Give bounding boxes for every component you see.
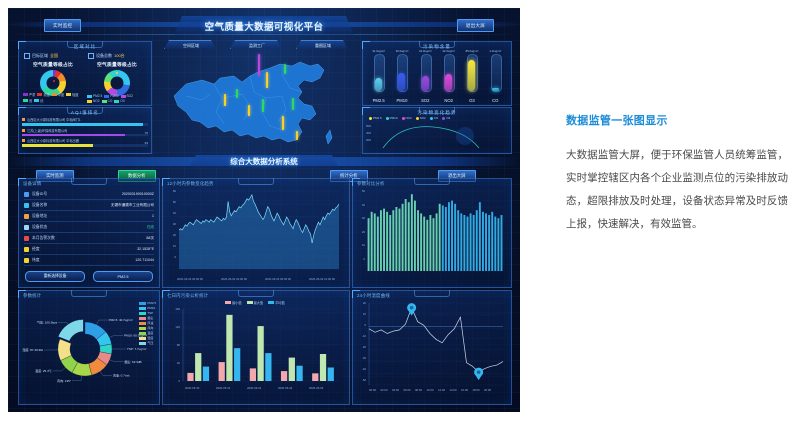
trend-legend-item: NO2: [402, 116, 412, 120]
tube-fill: [445, 74, 452, 91]
legend-swatch: [23, 99, 28, 102]
pie-slice-label: 湿度: 87.4%RH: [23, 347, 44, 352]
region-panel-title: 区域对比: [19, 44, 151, 50]
device-row: 设备名称无锡市通顺市工业有限公司: [24, 200, 154, 211]
axis-tick: 30: [162, 222, 176, 226]
legend-swatch: [139, 327, 146, 330]
exit-fullscreen-button[interactable]: 退出大屏: [457, 19, 494, 32]
bullet-icon: [22, 118, 25, 121]
axis-tick: 16:00: [461, 388, 468, 392]
region-left-legend: 严重重度中度轻度良优: [23, 92, 83, 103]
rank-value: 69: [145, 141, 148, 145]
target-region-label: 目标区域: [32, 53, 48, 59]
tube-name-labels: PM2.5PM10SO2NO2O3CO: [367, 98, 507, 103]
pie-legend-item: 风向: [139, 326, 156, 330]
legend-label: 优: [40, 98, 43, 103]
device-count-selector[interactable]: 设备总数 100台: [85, 52, 149, 59]
axis-tick: 400: [366, 130, 371, 137]
device-row: 设备ID号202003190010000Z: [24, 189, 154, 200]
legend-swatch: [121, 95, 126, 98]
device-row: 设备状态在线: [24, 222, 154, 233]
rank-name: 山西区大小原标准有限公司 中标出器: [22, 138, 148, 143]
tube-name: PM10: [393, 98, 410, 103]
legend-swatch: [23, 93, 28, 96]
reselect-device-button[interactable]: 重新选择设备: [25, 271, 85, 282]
page-root: 实时监控 空气质量大数据可视化平台 退出大屏 区域对比 目标区域 全国 空气质量…: [0, 0, 800, 435]
rank-bar-fill: [22, 123, 143, 126]
legend-item: PM10: [104, 94, 118, 98]
legend-label: CO: [108, 99, 113, 103]
trend-legend-item: CO: [430, 116, 439, 120]
pie-legend-item: 烟尘: [139, 316, 156, 320]
checkbox-icon[interactable]: [88, 53, 94, 59]
legend-label: 平均值: [275, 300, 285, 305]
trend-legend-item: PM10: [386, 116, 398, 120]
map-marker[interactable]: [236, 89, 238, 98]
axis-tick: 40: [165, 361, 180, 365]
tube-bars: [367, 56, 507, 92]
tube-name: PM2.5: [370, 98, 387, 103]
axis-tick: 2020-06-03: [309, 386, 323, 390]
device-row: 设备地址1: [24, 211, 154, 222]
tube-fill: [375, 78, 382, 91]
legend-item: SO2: [121, 94, 133, 98]
axis-tick: 04:00: [392, 388, 399, 392]
tube-unit-labels: 31.0ug/m³40.0ug/m³34.0ug/m³42.0ug/m³85.0…: [367, 49, 507, 53]
tube-PM2.5[interactable]: [374, 56, 383, 92]
rank-name: 江苏(上级)环保科技有限公司: [22, 128, 148, 133]
map-marker[interactable]: [248, 105, 250, 116]
temperature-line-panel: 24小时温度曲线 20100-10-20-30-40-50 00:0002:00…: [352, 290, 512, 405]
pie-slice-label: 温度: 25.4℃: [35, 368, 52, 373]
legend-label: CO: [434, 116, 439, 120]
axis-tick: 2020-05-31: [216, 386, 230, 390]
legend-swatch: [139, 342, 146, 345]
tube-PM10[interactable]: [397, 56, 406, 92]
group-legend-item: 平均值: [268, 300, 285, 305]
rank-bar: [22, 123, 148, 126]
legend-label: 湿度: [147, 336, 153, 340]
axis-tick: 02:00: [381, 388, 388, 392]
target-region-value: 全国: [50, 53, 58, 59]
axis-tick: 20: [352, 301, 366, 305]
tube-unit: 42.0ug/m³: [440, 49, 457, 53]
donut-highlight-dot: [116, 72, 118, 74]
axis-tick: 10: [162, 244, 176, 248]
pie-legend: PM2.5PM10TSP烟尘风速风向温度湿度气压: [139, 301, 156, 345]
dashboard-screenshot: 实时监控 空气质量大数据可视化平台 退出大屏 区域对比 目标区域 全国 空气质量…: [8, 8, 520, 412]
legend-label: PM2.5: [147, 301, 156, 305]
tube-unit: 85.0ug/m³: [463, 49, 480, 53]
legend-label: PM10: [147, 306, 155, 310]
legend-item: 轻度: [66, 92, 78, 97]
panel-notch: [414, 290, 450, 297]
axis-tick: 500: [366, 123, 371, 130]
pollutant-content-panel: 污染物含量 31.0ug/m³40.0ug/m³34.0ug/m³42.0ug/…: [362, 41, 512, 106]
region-compare-left: 目标区域 全国 空气质量等级占比 严重重度中度轻度良优: [21, 52, 85, 104]
axis-tick: 2020-06-03 12:00:00: [309, 277, 335, 281]
axis-tick: 08:00: [415, 388, 422, 392]
legend-item: NO2: [87, 99, 100, 103]
parameter-pie-panel: 参数统计 PM2.5: 40.7ug/m³PM10: 60.3ug/m³TSP:…: [18, 290, 160, 405]
pie-slice-label: 风速: 0.7m/s: [113, 373, 130, 378]
legend-item: 优: [34, 98, 43, 103]
map-tab-2[interactable]: 重图区域: [296, 40, 350, 51]
axis-tick: 20:00: [484, 388, 491, 392]
panel-notch: [238, 290, 274, 297]
id-icon: [24, 192, 29, 197]
china-map-svg: [162, 54, 352, 150]
axis-tick: -30: [352, 356, 366, 360]
legend-label: O3: [120, 99, 124, 103]
tube-track: [491, 54, 502, 92]
dashboard-header: 实时监控 空气质量大数据可视化平台 退出大屏: [8, 8, 520, 38]
device-row: 经度32.1528°E: [24, 244, 154, 255]
device-value: 88次: [146, 236, 154, 241]
legend-label: TSP: [147, 311, 153, 315]
region-right-legend: PM2.5PM10SO2NO2COO3: [87, 94, 147, 103]
platform-title-text: 空气质量大数据可视化平台: [205, 19, 324, 33]
panel-notch: [238, 178, 274, 185]
pie-chart-svg[interactable]: PM2.5: 40.7ug/m³PM10: 60.3ug/m³TSP: 7.7u…: [27, 301, 151, 399]
tube-name: SO2: [417, 98, 434, 103]
axis-tick: 120: [165, 325, 180, 329]
panel-notch: [414, 178, 450, 185]
region-right-chart-title: 空气质量等级占比: [85, 61, 149, 68]
donut-highlight-dot: [53, 80, 55, 82]
device-value: 在线: [147, 225, 154, 230]
legend-item: 重度: [37, 92, 49, 97]
pie-legend-item: TSP: [139, 311, 156, 315]
axis-tick: 2020-06-03 03:00:00: [221, 277, 247, 281]
tube-unit: 1.0mg/m³: [487, 49, 504, 53]
map-marker[interactable]: [266, 72, 268, 88]
axis-tick: 10:00: [427, 388, 434, 392]
trend-legend-item: PM2.5: [369, 116, 382, 120]
group-bar-svg[interactable]: [183, 309, 339, 381]
group-panel-title: 七日内污染公析统计: [167, 293, 208, 299]
device-action-buttons: 重新选择设备 PM2.5: [25, 271, 153, 282]
legend-swatch: [139, 302, 146, 305]
rank-bar-fill: [22, 144, 93, 147]
legend-label: PM2.5: [93, 94, 102, 98]
legend-label: 严重: [29, 92, 35, 97]
tube-fill: [422, 76, 429, 91]
legend-swatch: [402, 117, 405, 120]
axis-tick: -20: [352, 345, 366, 349]
legend-label: PM10: [390, 116, 398, 120]
trend-legend-item: SO2: [416, 116, 426, 120]
tube-name: O3: [463, 98, 480, 103]
device-key: 设备名称: [32, 203, 47, 208]
legend-label: 最小值: [232, 300, 242, 305]
axis-tick: 80: [165, 343, 180, 347]
rank-panel-title: AQI值排名: [19, 110, 151, 116]
axis-tick: 300: [366, 137, 371, 144]
legend-swatch: [37, 93, 42, 96]
axis-tick: 10: [351, 243, 365, 247]
device-row: 本月告警次数88次: [24, 233, 154, 244]
legend-swatch: [225, 301, 231, 304]
platform-title: 空气质量大数据可视化平台: [174, 16, 354, 35]
axis-tick: 0: [165, 379, 180, 383]
line-chart-svg[interactable]: [369, 303, 503, 385]
axis-tick: 2020-06-01: [247, 386, 261, 390]
axis-tick: 50: [351, 189, 365, 193]
legend-swatch: [386, 117, 389, 120]
group-legend: 最小值最大值平均值: [225, 300, 285, 305]
legend-swatch: [104, 95, 109, 98]
axis-tick: 40: [162, 211, 176, 215]
pollution-trend-panel: 污染物变化趋势 PM2.5PM10NO2SO2COO3 500400300: [362, 107, 512, 154]
legend-swatch: [87, 95, 92, 98]
trend-curve: [379, 122, 507, 150]
pie-chart-plot: PM2.5: 40.7ug/m³PM10: 60.3ug/m³TSP: 7.7u…: [27, 301, 151, 399]
rank-list: 山西区大小原标准有限公司 中标阀门1江苏(上级)环保科技有限公司76山西区大小原…: [22, 117, 148, 149]
axis-tick: 10: [352, 312, 366, 316]
tube-unit: 31.0ug/m³: [370, 49, 387, 53]
pie-slice-label: TSP: 7.7ug/m³: [127, 347, 146, 351]
tube-O3[interactable]: [467, 56, 476, 92]
map-marker[interactable]: [292, 98, 294, 110]
pie-slice-label: 烟尘: 62.3dB: [124, 359, 141, 364]
rank-name: 山西区大小原标准有限公司 中标阀门1: [22, 117, 148, 122]
article-heading: 数据监管一张图显示: [566, 112, 788, 128]
device-key: 设备ID号: [32, 192, 47, 197]
pie-slice-label: 风向: 135°: [57, 378, 72, 383]
legend-swatch: [66, 93, 71, 96]
legend-label: 风速: [147, 321, 153, 325]
legend-item: 良: [23, 98, 32, 103]
device-count-label: 设备总数: [96, 53, 112, 59]
parameter-select-button[interactable]: PM2.5: [93, 271, 153, 282]
axis-tick: -50: [352, 378, 366, 382]
area-chart-panel: 12小时内参数变化趋势 6050403020100 2020-06-03 00:…: [162, 178, 350, 288]
axis-tick: 50: [162, 200, 176, 204]
axis-tick: 160: [165, 307, 180, 311]
legend-swatch: [87, 100, 92, 103]
device-value: 1: [152, 214, 154, 218]
legend-label: 重度: [43, 92, 49, 97]
rank-label: 山西区大小原标准有限公司 中标阀门1: [27, 117, 81, 122]
min-value-marker[interactable]: [474, 368, 483, 381]
axis-tick: 00:00: [369, 388, 376, 392]
pie-legend-item: 湿度: [139, 336, 156, 340]
group-legend-item: 最小值: [225, 300, 242, 305]
panel-notch: [71, 178, 107, 185]
rank-row[interactable]: 山西区大小原标准有限公司 中标出器69: [22, 138, 148, 147]
legend-swatch: [139, 322, 146, 325]
rank-bar: 76: [22, 134, 148, 137]
legend-label: 气压: [147, 341, 153, 345]
pie-legend-item: PM10: [139, 306, 156, 310]
axis-tick: 60: [162, 189, 176, 193]
area-chart-svg[interactable]: [179, 191, 339, 269]
map-marker[interactable]: [282, 116, 284, 130]
axis-tick: 20: [162, 233, 176, 237]
china-map-area: 空间区域 监测工厂 重图区域: [154, 38, 358, 152]
legend-label: O3: [446, 116, 450, 120]
legend-swatch: [247, 301, 253, 304]
region-left-chart-title: 空气质量等级占比: [21, 61, 85, 68]
axis-tick: 2020-06-02: [278, 386, 292, 390]
rank-value: 76: [145, 131, 148, 135]
legend-swatch: [102, 100, 107, 103]
legend-item: PM2.5: [87, 94, 102, 98]
legend-label: NO2: [406, 116, 412, 120]
legend-swatch: [268, 301, 274, 304]
legend-label: NO2: [93, 99, 100, 103]
device-count-value: 100台: [114, 53, 125, 59]
pie-legend-item: 温度: [139, 331, 156, 335]
pie-legend-item: PM2.5: [139, 301, 156, 305]
legend-swatch: [139, 332, 146, 335]
analysis-title: 综合大数据分析系统: [189, 155, 339, 168]
legend-swatch: [52, 93, 57, 96]
pie-legend-item: 风速: [139, 321, 156, 325]
legend-label: 良: [29, 98, 32, 103]
legend-label: 轻度: [72, 92, 78, 97]
pie-legend-item: 气压: [139, 341, 156, 345]
device-value: 120.711044: [135, 258, 154, 262]
axis-tick: 18:00: [473, 388, 480, 392]
tube-name: NO2: [440, 98, 457, 103]
device-panel-title: 设备详情: [23, 181, 41, 187]
legend-swatch: [369, 117, 372, 120]
legend-label: 风向: [147, 326, 153, 330]
legend-label: PM2.5: [373, 116, 382, 120]
weekly-group-bar-panel: 七日内污染公析统计 最小值最大值平均值 16012080400 2020-05-…: [162, 290, 350, 405]
legend-label: 温度: [147, 331, 153, 335]
aqi-rank-panel: AQI值排名 山西区大小原标准有限公司 中标阀门1江苏(上级)环保科技有限公司7…: [18, 107, 152, 154]
tube-name: CO: [487, 98, 504, 103]
map-marker[interactable]: [296, 131, 298, 140]
pie-slice-label: 气压: 100.2kpa: [37, 320, 57, 325]
legend-label: PM10: [110, 94, 118, 98]
axis-tick: 40: [351, 203, 365, 207]
legend-label: 中度: [58, 92, 64, 97]
tube-unit: 34.0ug/m³: [417, 49, 434, 53]
legend-item: 严重: [23, 92, 35, 97]
realtime-monitor-button[interactable]: 实时监控: [44, 19, 81, 32]
legend-swatch: [416, 117, 419, 120]
tube-fill: [492, 88, 499, 91]
axis-tick: 06:00: [404, 388, 411, 392]
rank-label: 山西区大小原标准有限公司 中标出器: [27, 138, 79, 143]
legend-item: 中度: [52, 92, 64, 97]
axis-tick: 0: [352, 323, 366, 327]
device-row: 纬度120.711044: [24, 255, 154, 266]
article-column: 数据监管一张图显示 大数据监管大屏，便于环保监管人员统筹监管，实时掌控辖区内各个…: [566, 112, 788, 236]
bullet-icon: [22, 129, 25, 132]
max-value-marker[interactable]: [407, 303, 416, 316]
legend-label: SO2: [420, 116, 426, 120]
axis-tick: -40: [352, 367, 366, 371]
pie-panel-title: 参数统计: [23, 293, 41, 299]
region-right-donut: [104, 70, 130, 96]
map-marker[interactable]: [224, 94, 226, 106]
checkbox-icon[interactable]: [24, 53, 30, 59]
trend-legend-item: O3: [442, 116, 450, 120]
tube-fill: [398, 73, 405, 91]
map-tab-1[interactable]: 监测工厂: [230, 40, 284, 51]
axis-tick: 2020-06-03 06:00:00: [265, 277, 291, 281]
region-compare-right: 设备总数 100台 空气质量等级占比 PM2.5PM10SO2NO2COO3: [85, 52, 149, 104]
dense-chart-title: 参数对比分析: [357, 181, 385, 187]
group-legend-item: 最大值: [247, 300, 264, 305]
axis-tick: 0: [162, 255, 176, 259]
rank-row[interactable]: 山西区大小原标准有限公司 中标阀门1: [22, 117, 148, 126]
legend-label: 烟尘: [147, 316, 153, 320]
region-compare-panel: 区域对比 目标区域 全国 空气质量等级占比 严重重度中度轻度良优 设备总数 10…: [18, 41, 152, 106]
device-info-list: 设备ID号202003190010000Z设备名称无锡市通顺市工业有限公司设备地…: [24, 189, 154, 266]
tube-NO2[interactable]: [444, 56, 453, 92]
dense-chart-plot: [367, 191, 503, 271]
device-key: 设备地址: [32, 214, 47, 219]
tube-fill: [468, 60, 475, 91]
legend-label: SO2: [127, 94, 133, 98]
line-panel-title: 24小时温度曲线: [357, 293, 390, 299]
target-region-selector[interactable]: 目标区域 全国: [21, 52, 85, 59]
device-key: 经度: [32, 247, 40, 252]
legend-item: CO: [102, 99, 113, 103]
panel-notch: [71, 290, 107, 297]
china-map[interactable]: [162, 54, 352, 150]
device-key: 纬度: [32, 258, 40, 263]
map-tab-0[interactable]: 空间区域: [164, 40, 218, 51]
bullet-icon: [22, 139, 25, 142]
device-value: 202003190010000Z: [122, 192, 154, 196]
rank-bar: 69: [22, 144, 148, 147]
device-detail-panel: 设备详情 设备ID号202003190010000Z设备名称无锡市通顺市工业有限…: [18, 178, 160, 288]
pie-slice-label: PM2.5: 40.7ug/m³: [109, 318, 133, 322]
lng-icon: [24, 247, 29, 252]
status-icon: [24, 225, 29, 230]
legend-swatch: [139, 307, 146, 310]
line-chart-plot: [369, 303, 503, 385]
group-chart-plot: [183, 309, 339, 381]
axis-tick: 2020-05-30: [185, 386, 199, 390]
legend-swatch: [114, 100, 119, 103]
dense-bar-svg[interactable]: [367, 191, 503, 271]
map-marker[interactable]: [284, 64, 286, 74]
legend-item: O3: [114, 99, 124, 103]
axis-tick: 14:00: [450, 388, 457, 392]
device-key: 设备状态: [32, 225, 47, 230]
dense-bar-panel: 参数对比分析 50403020100: [352, 178, 512, 288]
device-value: 无锡市通顺市工业有限公司: [111, 203, 154, 208]
analysis-subheader: 综合大数据分析系统 实时监测 数据分析 统计分析 退出大屏: [8, 153, 520, 177]
name-icon: [24, 203, 29, 208]
rank-bar-fill: [22, 134, 125, 137]
trend-y-axis: 500400300: [366, 123, 371, 144]
rank-label: 江苏(上级)环保科技有限公司: [27, 128, 67, 133]
legend-swatch: [34, 99, 39, 102]
tube-CO[interactable]: [491, 56, 500, 92]
device-key: 本月告警次数: [32, 236, 55, 241]
tube-SO2[interactable]: [421, 56, 430, 92]
axis-tick: -10: [352, 334, 366, 338]
rank-row[interactable]: 江苏(上级)环保科技有限公司76: [22, 128, 148, 137]
map-marker[interactable]: [262, 99, 264, 112]
axis-tick: 20: [351, 230, 365, 234]
legend-label: 最大值: [254, 300, 264, 305]
article-body: 大数据监管大屏，便于环保监管人员统筹监管，实时掌控辖区内各个企业监测点位的污染排…: [566, 144, 788, 236]
address-icon: [24, 214, 29, 219]
legend-swatch: [430, 117, 433, 120]
legend-swatch: [139, 337, 146, 340]
map-marker[interactable]: [258, 54, 260, 76]
